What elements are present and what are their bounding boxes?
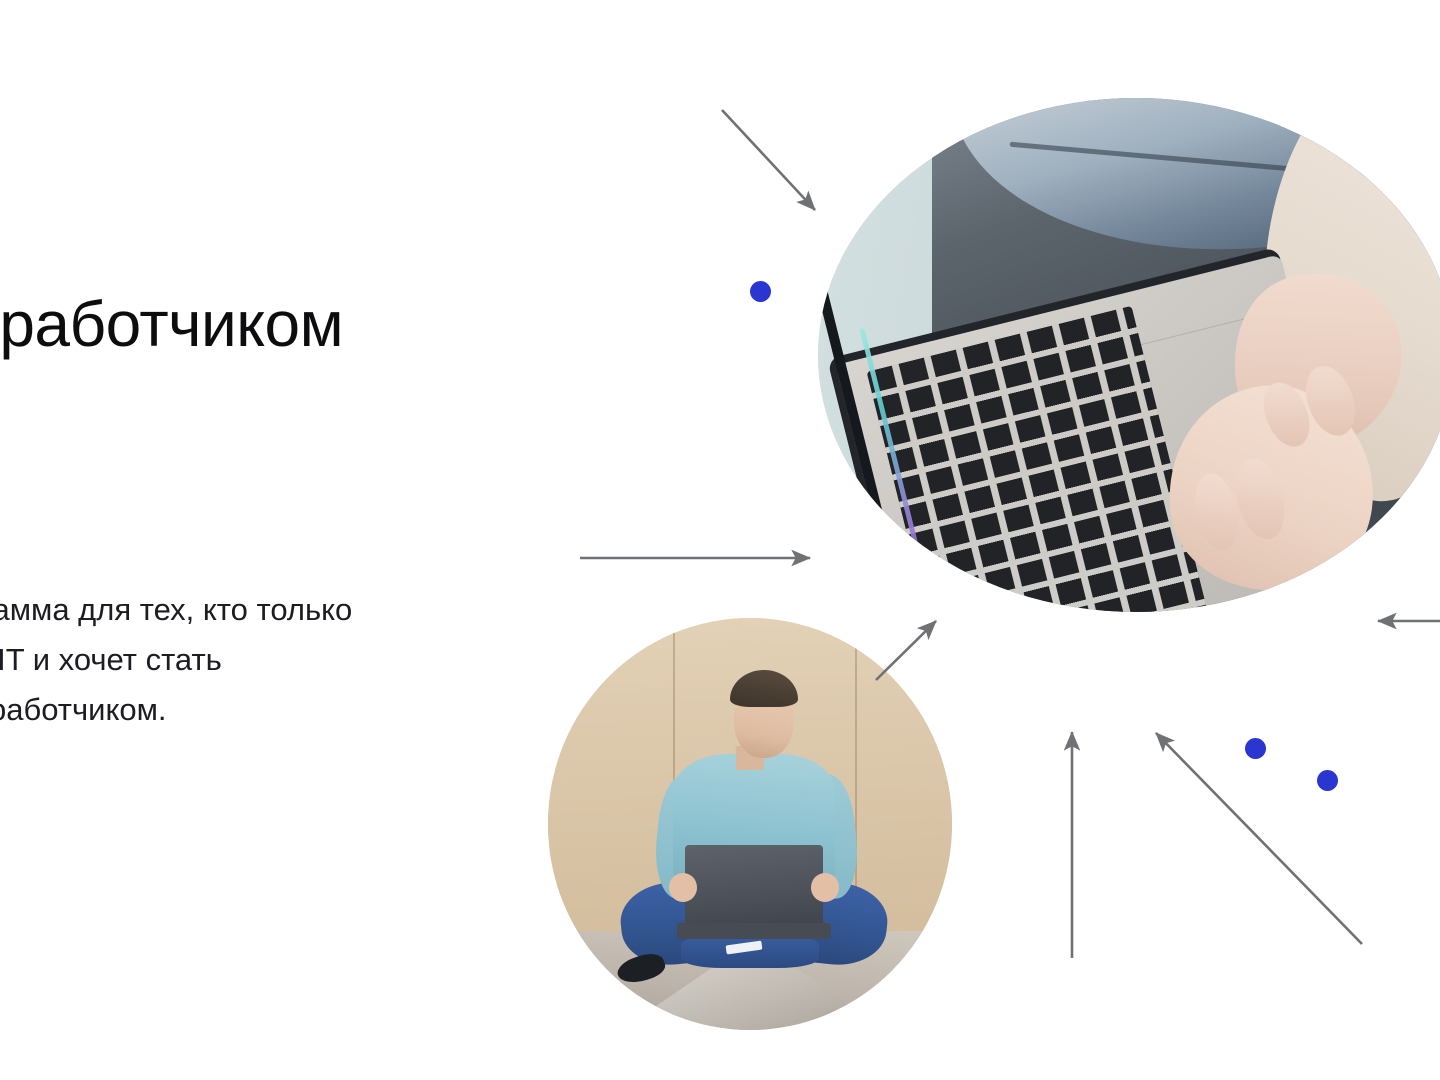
arrow-lower-diagonal-up-left <box>1156 733 1362 944</box>
circle-photo-laptop-base <box>677 923 831 939</box>
page-title-accent-line: юс <box>0 371 730 464</box>
photo-hands-typing-on-laptop <box>818 98 1440 612</box>
circle-photo-laptop <box>685 845 822 936</box>
hero-description: ая программа для тех, кто только с миром… <box>0 585 630 735</box>
decor-dot-lower-right-lower <box>1317 770 1338 791</box>
page-title-line-2: on-разработчиком <box>0 288 343 360</box>
decor-dot-near-heading <box>750 281 771 302</box>
hero-text-block: тать on-разработчиком юс <box>0 185 730 464</box>
arrow-top-diagonal-down-right <box>722 110 815 210</box>
photo-young-man-with-laptop <box>548 618 952 1030</box>
slide-canvas: тать on-разработчиком юс ая программа дл… <box>0 0 1440 1080</box>
decor-dot-lower-right-upper <box>1245 738 1266 759</box>
page-title: тать on-разработчиком юс <box>0 185 730 464</box>
circle-photo-right-hand <box>811 873 839 902</box>
circle-photo-shin <box>681 935 818 968</box>
